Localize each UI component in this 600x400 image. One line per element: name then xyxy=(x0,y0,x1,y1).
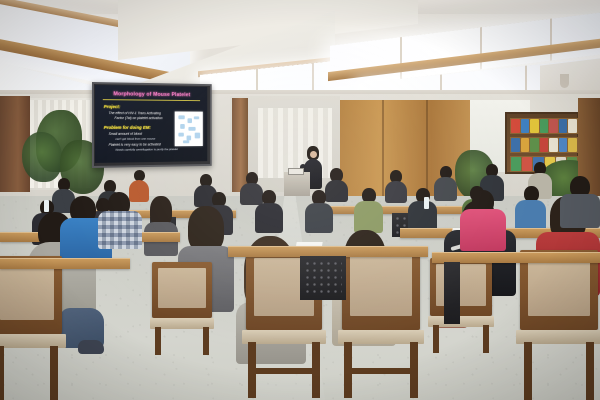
projection-screen: Morphology of Mouse Platelet Project: Th… xyxy=(92,82,212,168)
slide-section-2-bullet-2: Platelet is very easy to be activated xyxy=(109,142,161,146)
slide-section-2-bullet-1-sub: can't get blood from one mouse xyxy=(115,137,155,141)
slide-section-1-heading: Project: xyxy=(104,104,121,109)
slide-figure xyxy=(175,111,203,146)
presenter-face xyxy=(310,151,317,158)
book xyxy=(511,119,520,133)
shoe xyxy=(78,340,104,354)
slide-section-2-bullet-1: Small amount of blood xyxy=(109,132,142,136)
bookshelf-row xyxy=(510,137,578,153)
book xyxy=(559,138,568,152)
slide-title-rule xyxy=(103,99,200,101)
book xyxy=(568,138,577,152)
chair-mid-a xyxy=(152,262,212,352)
presentation-slide: Morphology of Mouse Platelet Project: Th… xyxy=(95,85,207,163)
book xyxy=(540,138,549,152)
book xyxy=(559,119,568,133)
desk-foreground-left xyxy=(0,258,130,269)
ceiling xyxy=(0,0,600,96)
skylight-mullion xyxy=(400,37,402,79)
water-bottle xyxy=(424,197,429,209)
slide-section-1-bullet: The effect of HIV-1 Trans Activating xyxy=(109,111,161,115)
chair-mid-b xyxy=(430,258,492,352)
plaid-shirt xyxy=(98,211,142,249)
slide-title: Morphology of Mouse Platelet xyxy=(103,91,200,98)
book xyxy=(568,119,577,133)
skylight-mullion xyxy=(480,27,482,69)
desk-leg-foreground-right xyxy=(444,262,460,324)
chair-foreground-right xyxy=(342,248,420,398)
book xyxy=(549,138,558,152)
book xyxy=(511,138,520,152)
attendee-pink xyxy=(458,190,508,250)
attendee-far-right xyxy=(560,176,600,226)
chair-far-left xyxy=(0,256,62,400)
book xyxy=(530,138,539,152)
book xyxy=(521,138,530,152)
chair-right-foreground xyxy=(520,250,598,400)
pink-jacket xyxy=(460,209,506,251)
water-bottle xyxy=(44,200,49,212)
book xyxy=(549,119,558,133)
book xyxy=(540,119,549,133)
photo-scene: Morphology of Mouse Platelet Project: Th… xyxy=(0,0,600,400)
book xyxy=(530,119,539,133)
slide-section-2-heading: Problem for doing EM: xyxy=(104,125,151,130)
slide-section-2-bullet-2-sub: Needs carefully centrifugation to purify… xyxy=(115,147,178,152)
slide-section-1-bullet-cont: Factor (Tat) on platelet activation xyxy=(114,116,162,120)
attendee-plaid xyxy=(96,192,144,248)
ceiling-speaker-icon xyxy=(560,74,569,88)
book xyxy=(521,119,530,133)
bookshelf-row xyxy=(510,118,578,134)
desk-panel-perforation xyxy=(304,260,342,296)
skylight-mullion xyxy=(550,19,552,61)
